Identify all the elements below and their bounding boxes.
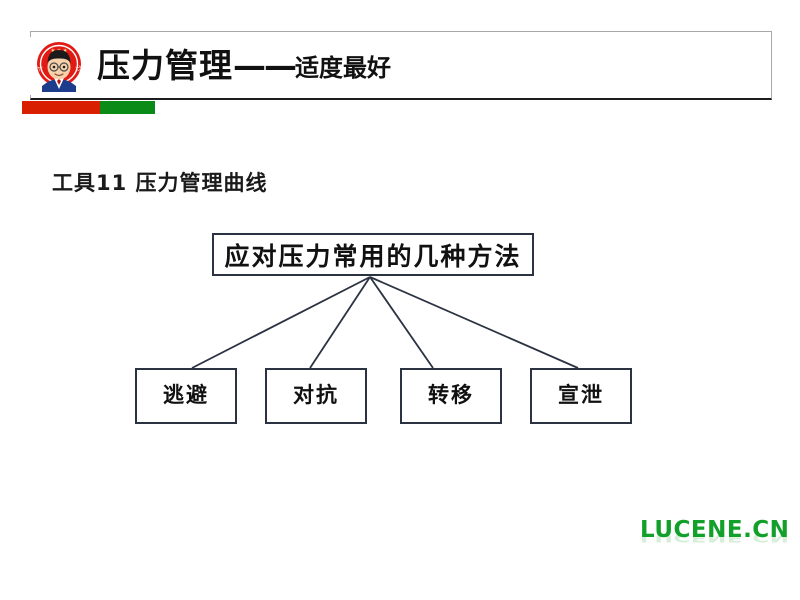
page-title-main: 压力管理: [97, 49, 233, 82]
diagram-node-leaf-4[interactable]: 宣泄: [530, 368, 632, 424]
section-heading: 工具11 压力管理曲线: [52, 167, 268, 197]
page-title-subtitle: 适度最好: [295, 56, 391, 80]
page-title: 压力管理 —— 适度最好: [97, 36, 391, 94]
diagram-node-root[interactable]: 应对压力常用的几种方法: [212, 233, 534, 276]
slide-canvas: ★ ★ ★ 人 力 压力管理 —— 适度最好 工具11 压力管理曲线: [0, 0, 800, 600]
diagram-node-leaf-3[interactable]: 转移: [400, 368, 502, 424]
diagram-node-leaf-2[interactable]: 对抗: [265, 368, 367, 424]
watermark-reflection: LUCENE.CN: [640, 530, 792, 544]
cartoon-man-seal-avatar-icon: ★ ★ ★ 人 力: [30, 37, 88, 95]
header-stripe-green: [100, 101, 155, 114]
header-stripe-red: [22, 101, 100, 114]
page-title-dash: ——: [233, 49, 295, 82]
watermark: LUCENE.CN LUCENE.CN: [640, 518, 792, 568]
diagram-node-leaf-1[interactable]: 逃避: [135, 368, 237, 424]
